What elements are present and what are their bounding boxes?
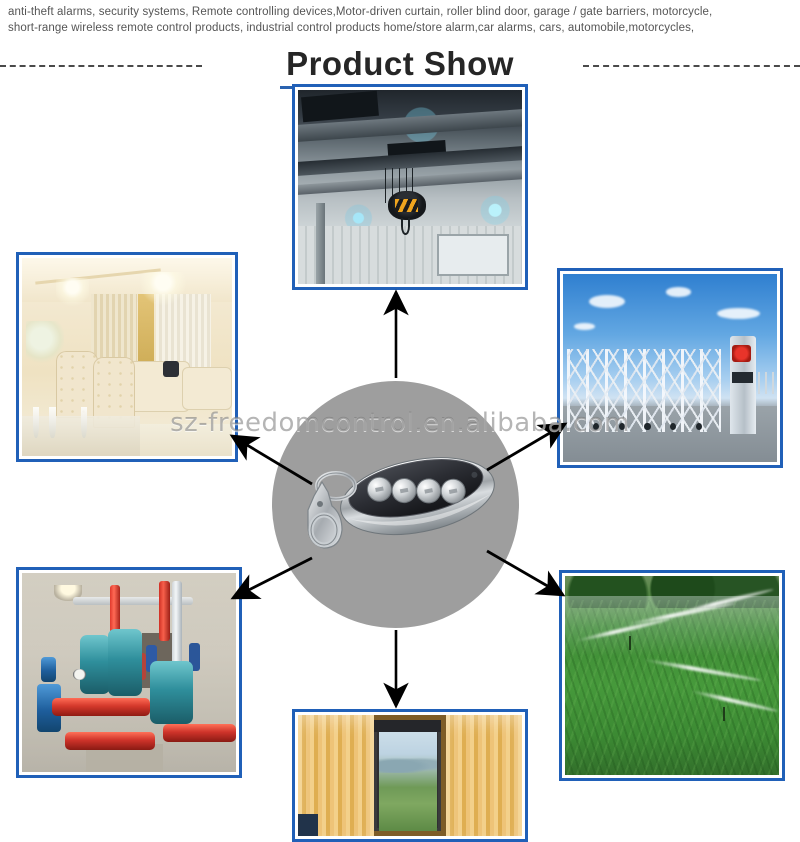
photo-frame-crane[interactable] bbox=[292, 84, 528, 290]
photo-frame-pumproom[interactable] bbox=[16, 567, 242, 778]
photo-curtain bbox=[298, 715, 522, 836]
dashed-rule-right bbox=[583, 65, 800, 67]
keyword-line-2: short-range wireless remote control prod… bbox=[8, 20, 792, 36]
remote-keyfob-product bbox=[278, 440, 518, 560]
photo-pumproom bbox=[22, 573, 236, 772]
photo-frame-gate[interactable] bbox=[557, 268, 783, 468]
photo-crane bbox=[298, 90, 522, 284]
page-title: Product Show bbox=[0, 44, 800, 84]
photo-frame-curtain[interactable] bbox=[292, 709, 528, 842]
keyword-paragraph: anti-theft alarms, security systems, Rem… bbox=[8, 4, 792, 36]
photo-irrigation bbox=[565, 576, 779, 775]
watermark-text: sz-freedomcontrol.en.alibaba.com bbox=[0, 408, 800, 438]
keyword-line-1: anti-theft alarms, security systems, Rem… bbox=[8, 4, 792, 20]
dashed-rule-left bbox=[0, 65, 202, 67]
photo-frame-irrigation[interactable] bbox=[559, 570, 785, 781]
